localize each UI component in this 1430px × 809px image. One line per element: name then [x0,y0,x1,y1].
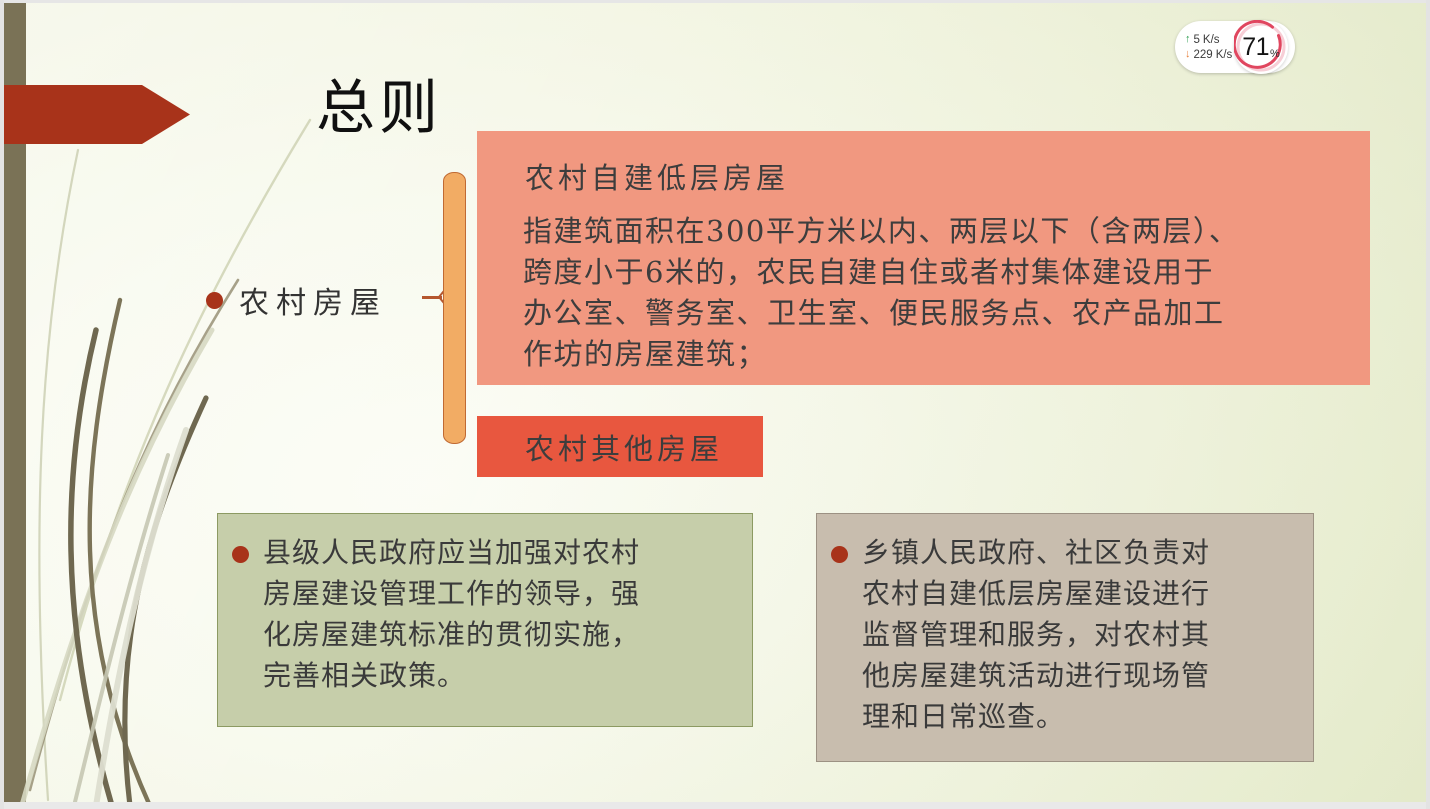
beige-box-line: 监督管理和服务，对农村其 [862,614,1210,655]
download-speed-row: ↓ 229 K/s [1185,49,1232,61]
bullet-dot-icon [206,292,223,309]
left-category-label: 农村房屋 [206,278,387,322]
network-speed-rows: ↑ 5 K/s ↓ 229 K/s [1185,34,1232,61]
cpu-usage-ring-gauge[interactable]: 71 % [1234,20,1288,74]
slide-canvas: 总则 农村房屋 农村自建低层房屋 指建筑面积在300平方米以内、两层以下（含两层… [0,0,1430,809]
bullet-dot-icon [831,546,848,563]
ring-gauge-value: 71 [1242,35,1269,60]
arrow-down-icon: ↓ [1185,49,1191,60]
slide-edge-bottom [0,802,1430,809]
green-box-line: 完善相关政策。 [263,655,640,696]
salmon-definition-box: 农村自建低层房屋 指建筑面积在300平方米以内、两层以下（含两层）、 跨度小于6… [477,131,1370,385]
beige-box-lines: 乡镇人民政府、社区负责对 农村自建低层房屋建设进行 监督管理和服务，对农村其 他… [862,532,1210,737]
arrow-up-icon: ↑ [1185,34,1191,45]
salmon-box-line: 跨度小于6米的，农民自建自住或者村集体建设用于 [523,252,1356,293]
ring-gauge-percent-symbol: % [1270,48,1280,60]
green-box-lines: 县级人民政府应当加强对农村 房屋建设管理工作的领导，强 化房屋建筑标准的贯彻实施… [263,532,640,696]
slide-edge-right [1426,0,1430,809]
orange-box-heading: 农村其他房屋 [525,426,723,468]
beige-box-line: 乡镇人民政府、社区负责对 [862,532,1210,573]
green-box-line: 县级人民政府应当加强对农村 [263,532,640,573]
left-category-label-text: 农村房屋 [239,278,387,322]
arrow-banner-shape [0,85,190,144]
salmon-box-body: 指建筑面积在300平方米以内、两层以下（含两层）、 跨度小于6米的，农民自建自住… [523,211,1356,375]
beige-box-line: 农村自建低层房屋建设进行 [862,573,1210,614]
salmon-box-heading: 农村自建低层房屋 [525,155,1370,197]
green-note-box: 县级人民政府应当加强对农村 房屋建设管理工作的领导，强 化房屋建筑标准的贯彻实施… [217,513,753,727]
upload-speed-row: ↑ 5 K/s [1185,34,1232,46]
orange-category-box: 农村其他房屋 [477,416,763,477]
orange-brace-bar [443,172,466,444]
salmon-box-line: 办公室、警务室、卫生室、便民服务点、农产品加工 [523,293,1356,334]
salmon-box-line: 作坊的房屋建筑； [523,334,1356,375]
beige-box-paragraph: 乡镇人民政府、社区负责对 农村自建低层房屋建设进行 监督管理和服务，对农村其 他… [817,514,1313,737]
ring-gauge-label: 71 % [1234,20,1288,74]
beige-note-box: 乡镇人民政府、社区负责对 农村自建低层房屋建设进行 监督管理和服务，对农村其 他… [816,513,1314,762]
beige-box-line: 他房屋建筑活动进行现场管 [862,655,1210,696]
bullet-dot-icon [232,546,249,563]
green-box-line: 房屋建设管理工作的领导，强 [263,573,640,614]
beige-box-line: 理和日常巡查。 [862,696,1210,737]
green-box-line: 化房屋建筑标准的贯彻实施， [263,614,640,655]
slide-edge-left [0,0,4,809]
green-box-paragraph: 县级人民政府应当加强对农村 房屋建设管理工作的领导，强 化房屋建筑标准的贯彻实施… [218,514,752,696]
salmon-box-line: 指建筑面积在300平方米以内、两层以下（含两层）、 [523,211,1356,252]
download-speed-unit: K/s [1216,49,1233,61]
slide-edge-top [0,0,1430,3]
download-speed-value: 229 [1194,49,1213,61]
upload-speed-unit: K/s [1203,34,1220,46]
page-title: 总则 [316,78,442,137]
upload-speed-value: 5 [1194,34,1200,46]
